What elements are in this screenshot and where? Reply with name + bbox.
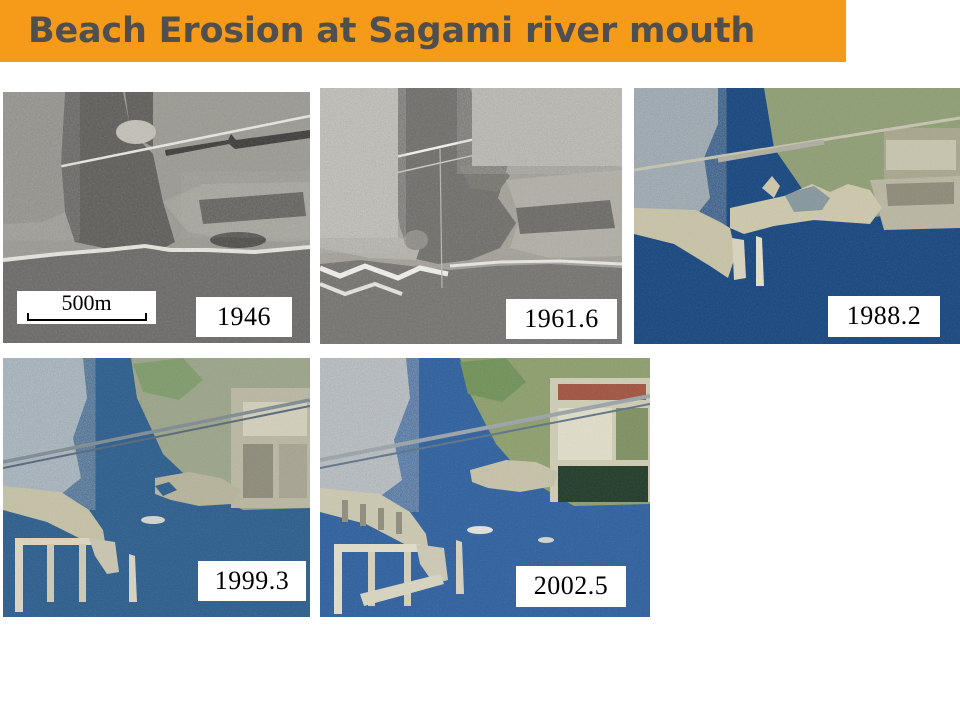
page-title: Beach Erosion at Sagami river mouth: [28, 9, 755, 53]
scale-bar-ruler: [27, 313, 147, 321]
year-label-1999: 1999.3: [198, 561, 306, 601]
year-label-1961: 1961.6: [506, 299, 617, 339]
title-banner: Beach Erosion at Sagami river mouth: [0, 0, 846, 62]
scale-bar: 500m: [17, 291, 156, 324]
year-label-2002: 2002.5: [516, 566, 626, 607]
year-label-1988: 1988.2: [828, 296, 940, 337]
year-label-1946: 1946: [196, 297, 292, 337]
scale-bar-label: 500m: [17, 291, 156, 314]
